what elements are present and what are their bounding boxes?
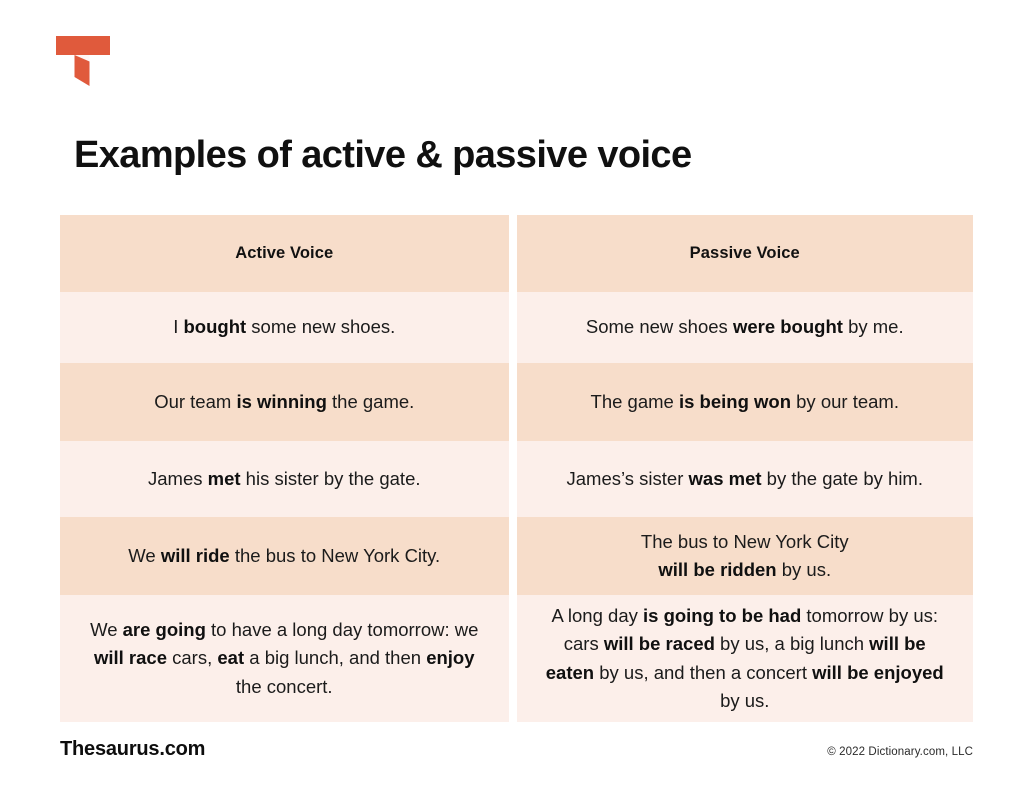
cell-passive-voice: James’s sister was met by the gate by hi…: [517, 441, 974, 517]
thesaurus-t-logo-icon: [56, 36, 110, 86]
table-row: We are going to have a long day tomorrow…: [60, 595, 973, 722]
passive-sentence: A long day is going to be had tomorrow b…: [543, 602, 948, 714]
table-row: I bought some new shoes. Some new shoes …: [60, 292, 973, 363]
table-header-row: Active Voice Passive Voice: [60, 215, 973, 292]
cell-passive-voice: A long day is going to be had tomorrow b…: [517, 595, 974, 722]
column-header-active-voice: Active Voice: [60, 215, 517, 292]
cell-passive-voice: Some new shoes were bought by me.: [517, 292, 974, 363]
cell-active-voice: Our team is winning the game.: [60, 363, 517, 441]
column-header-passive-voice: Passive Voice: [517, 215, 974, 292]
thesaurus-logo: [56, 36, 110, 86]
active-sentence: We will ride the bus to New York City.: [86, 542, 483, 570]
page-title: Examples of active & passive voice: [74, 133, 692, 179]
cell-active-voice: We will ride the bus to New York City.: [60, 517, 517, 595]
active-sentence: We are going to have a long day tomorrow…: [86, 616, 483, 700]
cell-active-voice: James met his sister by the gate.: [60, 441, 517, 517]
active-sentence: I bought some new shoes.: [86, 313, 483, 341]
footer: Thesaurus.com © 2022 Dictionary.com, LLC: [60, 738, 973, 761]
table-row: James met his sister by the gate. James’…: [60, 441, 973, 517]
passive-sentence: Some new shoes were bought by me.: [543, 313, 948, 341]
passive-sentence: The bus to New York Citywill be ridden b…: [543, 528, 948, 584]
active-sentence: James met his sister by the gate.: [86, 465, 483, 493]
table-row: We will ride the bus to New York City. T…: [60, 517, 973, 595]
active-sentence: Our team is winning the game.: [86, 388, 483, 416]
passive-sentence: The game is being won by our team.: [543, 388, 948, 416]
cell-active-voice: I bought some new shoes.: [60, 292, 517, 363]
passive-sentence: James’s sister was met by the gate by hi…: [543, 465, 948, 493]
active-passive-voice-table: Active Voice Passive Voice I bought some…: [60, 215, 973, 722]
table-header: Active Voice Passive Voice: [60, 215, 973, 292]
cell-active-voice: We are going to have a long day tomorrow…: [60, 595, 517, 722]
footer-brand[interactable]: Thesaurus.com: [60, 738, 205, 761]
cell-passive-voice: The game is being won by our team.: [517, 363, 974, 441]
table-body: I bought some new shoes. Some new shoes …: [60, 292, 973, 722]
table-row: Our team is winning the game. The game i…: [60, 363, 973, 441]
cell-passive-voice: The bus to New York Citywill be ridden b…: [517, 517, 974, 595]
footer-copyright: © 2022 Dictionary.com, LLC: [827, 746, 973, 758]
